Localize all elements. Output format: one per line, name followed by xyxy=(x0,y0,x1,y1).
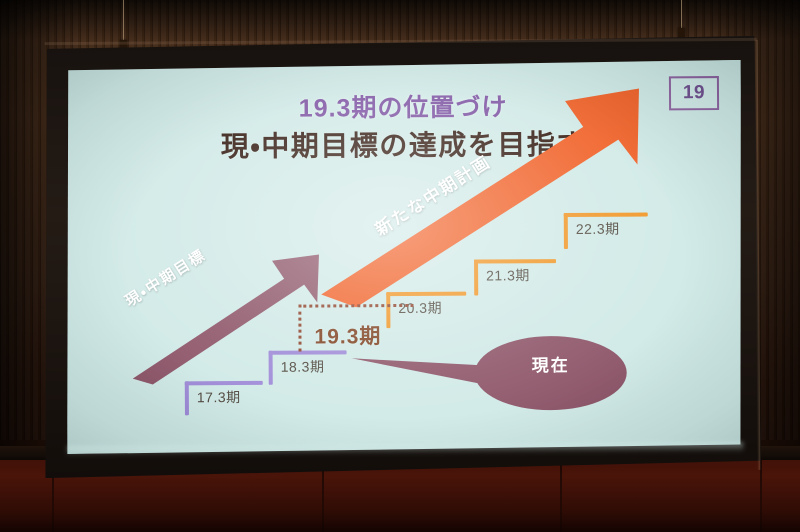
step-label-22: 22.3期 xyxy=(576,219,620,239)
step-label-17: 17.3期 xyxy=(197,387,241,407)
diagram-graphics xyxy=(65,60,743,454)
present-marker-label: 現在 xyxy=(491,351,611,377)
step-label-21: 21.3期 xyxy=(486,265,530,285)
slide-content: 19 19.3期の位置づけ 現・中期目標の達成を目指す xyxy=(65,60,743,454)
new-plan-arrow-shape xyxy=(320,89,640,308)
photo-scene: 19 19.3期の位置づけ 現・中期目標の達成を目指す xyxy=(0,0,800,532)
screen-surface: 19 19.3期の位置づけ 現・中期目標の達成を目指す xyxy=(65,60,743,454)
callout-19-label: 19.3期 xyxy=(314,320,381,350)
projection-screen: 19 19.3期の位置づけ 現・中期目標の達成を目指す xyxy=(43,36,762,478)
step-label-18: 18.3期 xyxy=(281,356,325,376)
